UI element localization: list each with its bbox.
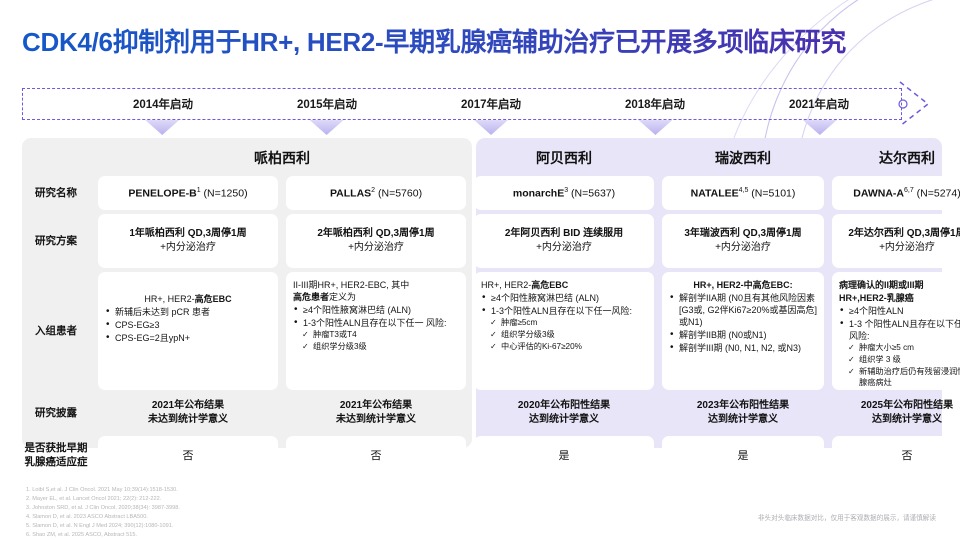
arrow-col-1 — [80, 120, 244, 136]
arrow-spacer — [22, 120, 80, 136]
footnote-item: 1. Loibl S,et al. J Clin Oncol. 2021 May… — [26, 486, 180, 495]
list-item: 1-3 个阳性ALN且存在以下任一风险: — [839, 318, 960, 342]
list-item: 新辅后未达到 pCR 患者 — [105, 306, 271, 318]
table-cell-approval-1: 否 — [98, 436, 278, 474]
approval-value: 是 — [559, 447, 570, 463]
footnote-item: 2. Mayer EL, et al. Lancet Oncol 2021; 2… — [26, 495, 180, 504]
patients-head-plain: HR+, HER2- — [481, 280, 531, 290]
table-grid: 哌柏西利 阿贝西利 瑞波西利 达尔西利 研究名称 PENELOPE-B1 (N=… — [22, 138, 942, 448]
disclosure-line1: 2020年公布阳性结果 — [518, 399, 610, 414]
timeline-bar: 2014年启动 2015年启动 2017年启动 2018年启动 2021年启动 — [22, 88, 902, 120]
disclosure-line1: 2021年公布结果 — [148, 399, 228, 414]
disclosure-line1: 2025年公布阳性结果 — [861, 399, 953, 414]
comparison-table: 哌柏西利 阿贝西利 瑞波西利 达尔西利 研究名称 PENELOPE-B1 (N=… — [22, 138, 942, 448]
table-cell-disclosure-4: 2023年公布阳性结果达到统计学意义 — [662, 394, 824, 432]
row-label-study-name: 研究名称 — [22, 176, 90, 210]
table-cell-disclosure-1: 2021年公布结果未达到统计学意义 — [98, 394, 278, 432]
group-header-abemaciclib: 阿贝西利 — [474, 144, 654, 172]
list-item: ≥4个阳性腋窝淋巴结 (ALN) — [293, 304, 459, 316]
patients-bullet-list: ≥4个阳性ALN 1-3 个阳性ALN且存在以下任一风险: — [839, 305, 960, 342]
footnote-item: 4. Slamon D, et al. 2023 ASCO Abstract L… — [26, 513, 180, 522]
patients-bullet-list: 解剖学IIA期 (N0且有其他风险因素[G3或, G2伴Ki67≥20%或基因高… — [669, 292, 817, 354]
study-name-text: PALLAS — [330, 187, 371, 199]
disclosure-line2: 达到统计学意义 — [861, 413, 953, 428]
timeline-arrowhead-icon — [898, 80, 946, 128]
footnote-item: 6. Shao ZM, et al. 2025 ASCO, Abstract 5… — [26, 531, 180, 540]
chevron-down-icon — [638, 120, 672, 135]
list-item: 1-3个阳性ALN且存在以下任一 风险: — [293, 317, 459, 329]
timeline-year-2018: 2018年启动 — [573, 96, 737, 112]
list-item: 中心评估的Ki-67≥20% — [490, 342, 647, 353]
approval-value: 否 — [902, 447, 913, 463]
table-cell-disclosure-2: 2021年公布结果未达到统计学意义 — [286, 394, 466, 432]
disclosure-line2: 未达到统计学意义 — [148, 413, 228, 428]
patients-head: HR+, HER2-高危EBC — [481, 279, 647, 291]
row-label-study-plan: 研究方案 — [22, 214, 90, 268]
list-item: CPS-EG≥3 — [105, 319, 271, 331]
timeline-year-2021: 2021年启动 — [737, 96, 901, 112]
table-cell-plan-4: 3年瑞波西利 QD,3周停1周+内分泌治疗 — [662, 214, 824, 268]
table-cell-plan-3: 2年阿贝西利 BID 连续服用+内分泌治疗 — [474, 214, 654, 268]
study-name-text: PENELOPE-B — [128, 187, 196, 199]
table-cell-approval-3: 是 — [474, 436, 654, 474]
table-cell-study-name-4: NATALEE4,5 (N=5101) — [662, 176, 824, 210]
table-cell-plan-1: 1年哌柏西利 QD,3周停1周+内分泌治疗 — [98, 214, 278, 268]
list-item: 肿瘤≥5cm — [490, 318, 647, 329]
table-cell-study-name-2: PALLAS2 (N=5760) — [286, 176, 466, 210]
patients-bullet-list: ≥4个阳性腋窝淋巴结 (ALN) 1-3个阳性ALN且存在以下任一风险: — [481, 292, 647, 317]
row-label-patients: 入组患者 — [22, 272, 90, 390]
patients-head: II-III期HR+, HER2-EBC, 其中高危患者定义为 — [293, 279, 459, 303]
list-item: 1-3个阳性ALN且存在以下任一风险: — [481, 305, 647, 317]
study-ref-sup: 6,7 — [904, 187, 914, 194]
plan-line1: 2年哌柏西利 QD,3周停1周 — [317, 227, 434, 242]
patients-head-line2: HR+,HER2-乳腺癌 — [839, 292, 960, 304]
table-cell-patients-4: HR+, HER2-中高危EBC: 解剖学IIA期 (N0且有其他风险因素[G3… — [662, 272, 824, 390]
group-header-ribociclib: 瑞波西利 — [662, 144, 824, 172]
patients-check-list: 肿瘤大小≥5 cm 组织学 3 级 新辅助治疗后仍有残留浸润性乳腺癌病灶 Ki-… — [848, 343, 960, 390]
plan-line2: +内分泌治疗 — [684, 241, 801, 256]
patients-head: HR+, HER2-中高危EBC: — [669, 279, 817, 291]
disclosure-line1: 2023年公布阳性结果 — [697, 399, 789, 414]
plan-line1: 1年哌柏西利 QD,3周停1周 — [129, 227, 246, 242]
patients-head-plain: II-III期HR+, HER2-EBC, 其中 — [293, 280, 409, 290]
chevron-down-icon — [310, 120, 344, 135]
study-n: (N=5637) — [568, 187, 615, 199]
list-item: ≥4个阳性腋窝淋巴结 (ALN) — [481, 292, 647, 304]
list-item: ≥4个阳性ALN — [839, 305, 960, 317]
list-item: CPS-EG=2且ypN+ — [105, 332, 271, 344]
group-header-palbociclib: 哌柏西利 — [98, 144, 466, 172]
arrow-col-4 — [573, 120, 737, 136]
list-item: 解剖学III期 (N0, N1, N2, 或N3) — [669, 342, 817, 354]
study-ref-sup: 4,5 — [739, 187, 749, 194]
disclosure-line1: 2021年公布结果 — [336, 399, 416, 414]
study-name-text: NATALEE — [691, 187, 739, 199]
footnote-list: 1. Loibl S,et al. J Clin Oncol. 2021 May… — [26, 486, 180, 540]
patients-bullet-list: 新辅后未达到 pCR 患者 CPS-EG≥3 CPS-EG=2且ypN+ — [105, 306, 271, 344]
table-cell-patients-2: II-III期HR+, HER2-EBC, 其中高危患者定义为 ≥4个阳性腋窝淋… — [286, 272, 466, 390]
row-label-approval-line1: 是否获批早期 — [25, 441, 88, 455]
timeline-arrows — [22, 120, 902, 136]
study-name-text: monarchE — [513, 187, 564, 199]
list-item: 解剖学IIB期 (N0或N1) — [669, 329, 817, 341]
approval-value: 是 — [738, 447, 749, 463]
table-cell-study-name-1: PENELOPE-B1 (N=1250) — [98, 176, 278, 210]
disclaimer-text: 非头对头临床数据对比，仅用于客观数据的展示，请谨慎解读 — [758, 512, 936, 522]
patients-head-plain: HR+, HER2- — [144, 294, 194, 304]
row-label-approval-line2: 乳腺癌适应症 — [25, 455, 88, 469]
table-cell-disclosure-5: 2025年公布阳性结果达到统计学意义 — [832, 394, 960, 432]
list-item: 解剖学IIA期 (N0且有其他风险因素[G3或, G2伴Ki67≥20%或基因高… — [669, 292, 817, 328]
arrow-col-3 — [409, 120, 573, 136]
table-cell-patients-5: 病理确认的II期或III期 HR+,HER2-乳腺癌 ≥4个阳性ALN 1-3 … — [832, 272, 960, 390]
plan-line2: +内分泌治疗 — [129, 241, 246, 256]
patients-head-tail: 定义为 — [329, 292, 356, 302]
chevron-down-icon — [145, 120, 179, 135]
list-item: 组织学分级3级 — [490, 330, 647, 341]
timeline-year-2014: 2014年启动 — [81, 96, 245, 112]
plan-line1: 3年瑞波西利 QD,3周停1周 — [684, 227, 801, 242]
disclosure-line2: 达到统计学意义 — [518, 413, 610, 428]
list-item: 肿瘤大小≥5 cm — [848, 343, 960, 354]
approval-value: 否 — [183, 447, 194, 463]
study-n: (N=5274) — [914, 187, 960, 199]
patients-head-bold: 高危EBC — [531, 280, 568, 290]
patients-head: HR+, HER2-高危EBC — [105, 293, 271, 305]
table-cell-study-name-5: DAWNA-A6,7 (N=5274) — [832, 176, 960, 210]
chevron-down-icon — [474, 120, 508, 135]
patients-check-list: 肿瘤≥5cm 组织学分级3级 中心评估的Ki-67≥20% — [490, 318, 647, 353]
table-cell-patients-3: HR+, HER2-高危EBC ≥4个阳性腋窝淋巴结 (ALN) 1-3个阳性A… — [474, 272, 654, 390]
patients-head-bold: 高危患者 — [293, 292, 329, 302]
list-item: 组织学分级3级 — [302, 342, 459, 353]
table-cell-plan-2: 2年哌柏西利 QD,3周停1周+内分泌治疗 — [286, 214, 466, 268]
plan-line1: 2年阿贝西利 BID 连续服用 — [505, 227, 623, 242]
table-cell-plan-5: 2年达尔西利 QD,3周停1周+内分泌治疗 — [832, 214, 960, 268]
row-label-disclosure: 研究披露 — [22, 394, 90, 432]
table-cell-approval-5: 否 — [832, 436, 960, 474]
list-item: 新辅助治疗后仍有残留浸润性乳腺癌病灶 — [848, 367, 960, 389]
group-header-dalpiciclib: 达尔西利 — [832, 144, 960, 172]
patients-check-list: 肿瘤T3或T4 组织学分级3级 — [302, 330, 459, 353]
table-cell-approval-2: 否 — [286, 436, 466, 474]
grid-corner — [22, 144, 90, 172]
footnote-item: 5. Slamon D, et al. N Engl J Med 2024; 3… — [26, 522, 180, 531]
table-cell-patients-1: HR+, HER2-高危EBC 新辅后未达到 pCR 患者 CPS-EG≥3 C… — [98, 272, 278, 390]
timeline-year-2015: 2015年启动 — [245, 96, 409, 112]
plan-line2: +内分泌治疗 — [317, 241, 434, 256]
study-n: (N=5101) — [748, 187, 795, 199]
plan-line2: +内分泌治疗 — [505, 241, 623, 256]
table-cell-disclosure-3: 2020年公布阳性结果达到统计学意义 — [474, 394, 654, 432]
slide-root: CDK4/6抑制剂用于HR+, HER2-早期乳腺癌辅助治疗已开展多项临床研究 … — [0, 0, 960, 540]
arrow-col-5 — [738, 120, 902, 136]
disclosure-line2: 达到统计学意义 — [697, 413, 789, 428]
row-label-approval: 是否获批早期 乳腺癌适应症 — [22, 436, 90, 474]
timeline-year-2017: 2017年启动 — [409, 96, 573, 112]
approval-value: 否 — [371, 447, 382, 463]
plan-line2: +内分泌治疗 — [848, 241, 960, 256]
chevron-down-icon — [803, 120, 837, 135]
patients-head-line1: 病理确认的II期或III期 — [839, 279, 960, 291]
patients-bullet-list: ≥4个阳性腋窝淋巴结 (ALN) 1-3个阳性ALN且存在以下任一 风险: — [293, 304, 459, 329]
page-title: CDK4/6抑制剂用于HR+, HER2-早期乳腺癌辅助治疗已开展多项临床研究 — [22, 22, 846, 59]
table-cell-approval-4: 是 — [662, 436, 824, 474]
study-n: (N=5760) — [375, 187, 422, 199]
patients-head-bold: 高危EBC — [195, 294, 232, 304]
arrow-col-2 — [244, 120, 408, 136]
table-cell-study-name-3: monarchE3 (N=5637) — [474, 176, 654, 210]
disclosure-line2: 未达到统计学意义 — [336, 413, 416, 428]
study-name-text: DAWNA-A — [853, 187, 904, 199]
plan-line1: 2年达尔西利 QD,3周停1周 — [848, 227, 960, 242]
list-item: 组织学 3 级 — [848, 355, 960, 366]
footnote-item: 3. Johnston SRD, et al. J Clin Oncol. 20… — [26, 504, 180, 513]
list-item: 肿瘤T3或T4 — [302, 330, 459, 341]
study-n: (N=1250) — [201, 187, 248, 199]
